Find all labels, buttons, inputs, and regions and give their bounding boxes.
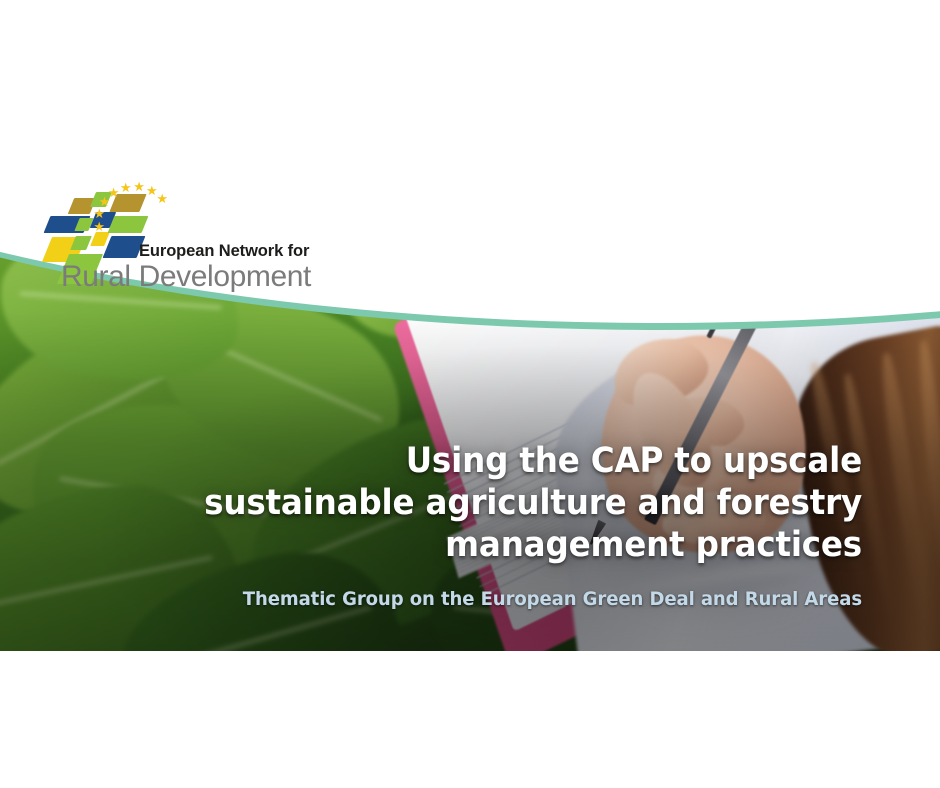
title-line-2: sustainable agriculture and forestry [60, 482, 862, 524]
eu-stars-arc: ★★★★★★★★ [103, 174, 183, 248]
eu-star-icon: ★ [120, 181, 132, 194]
enrd-logo[interactable]: ★★★★★★★★ European Network for Rural Deve… [47, 172, 347, 302]
eu-star-icon: ★ [93, 220, 105, 233]
headline-block: Using the CAP to upscale sustainable agr… [0, 440, 940, 610]
enrd-banner: ★★★★★★★★ European Network for Rural Deve… [0, 0, 940, 788]
eu-star-icon: ★ [156, 192, 168, 205]
logo-line-rural-development: Rural Development [61, 260, 311, 294]
eu-star-icon: ★ [133, 180, 145, 193]
eu-star-icon: ★ [94, 207, 106, 220]
eu-star-icon: ★ [108, 186, 120, 199]
title-line-3: management practices [60, 524, 862, 566]
subtitle: Thematic Group on the European Green Dea… [43, 588, 862, 610]
logo-line-european-network-for: European Network for [139, 242, 309, 261]
title-line-1: Using the CAP to upscale [60, 440, 862, 482]
